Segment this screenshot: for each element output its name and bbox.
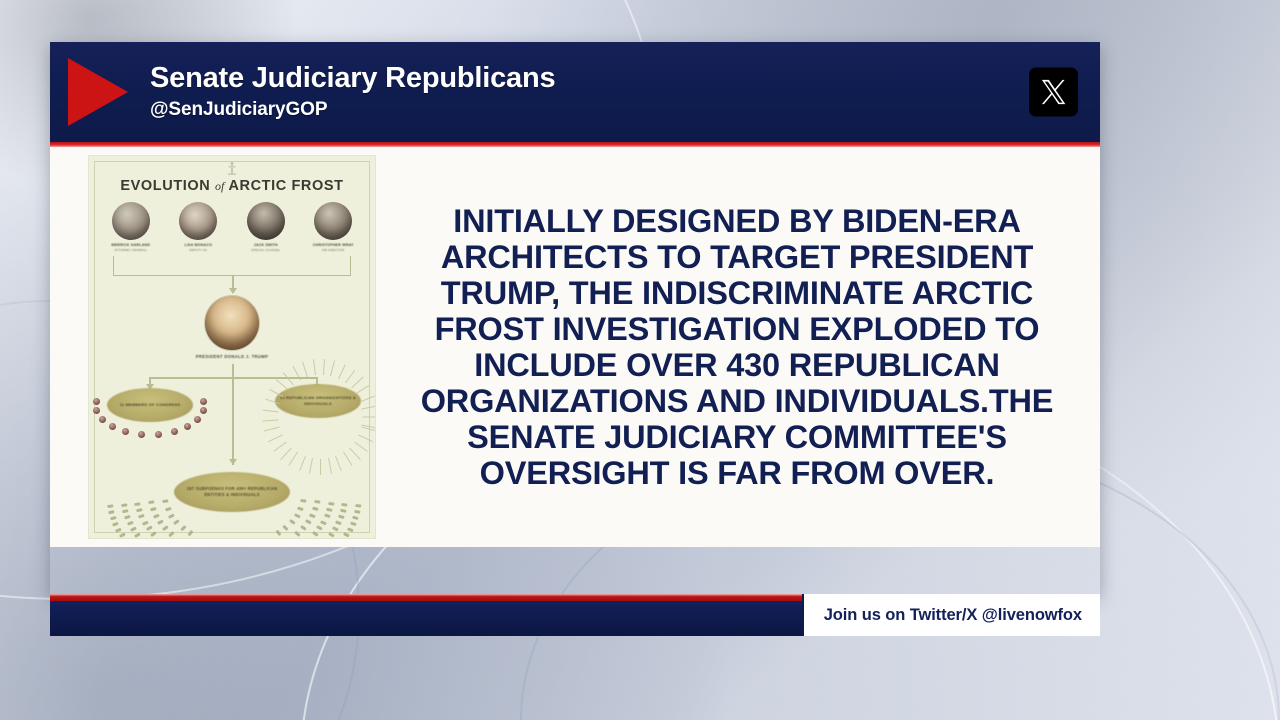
ticker-promo-text: Join us on Twitter/X @livenowfox xyxy=(824,606,1082,625)
x-twitter-logo-icon xyxy=(1029,68,1078,117)
social-quote-card: Senate Judiciary Republicans @SenJudicia… xyxy=(50,42,1100,594)
architect-role: DEPUTY AG xyxy=(168,248,228,252)
subpoena-person-glyph xyxy=(343,533,350,538)
architect-item: MERRICK GARLAND ATTORNEY GENERAL xyxy=(101,202,161,252)
portrait-avatar xyxy=(247,202,285,240)
infographic-title-part1: EVOLUTION xyxy=(120,178,210,194)
central-figure-label: PRESIDENT DONALD J. TRUMP xyxy=(89,354,375,359)
portrait-avatar xyxy=(112,202,150,240)
quote-text: INITIALLY DESIGNED BY BIDEN-ERA ARCHITEC… xyxy=(398,203,1076,492)
crest-icon xyxy=(224,161,240,177)
arctic-frost-infographic: EVOLUTION of ARCTIC FROST MERRICK GARLAN… xyxy=(88,155,376,539)
play-triangle-icon xyxy=(68,58,128,126)
connector-arrow-icon xyxy=(229,459,237,465)
node-republican-organizations: 10 REPUBLICAN ORGANIZATIONS & INDIVIDUAL… xyxy=(275,384,361,418)
account-identity: Senate Judiciary Republicans @SenJudicia… xyxy=(150,63,555,120)
account-handle: @SenJudiciaryGOP xyxy=(150,99,555,121)
architect-item: CHRISTOPHER WRAY FBI DIRECTOR xyxy=(303,202,363,252)
quote-container: INITIALLY DESIGNED BY BIDEN-ERA ARCHITEC… xyxy=(376,203,1086,492)
card-header: Senate Judiciary Republicans @SenJudicia… xyxy=(50,42,1100,142)
portrait-avatar xyxy=(179,202,217,240)
connector-bracket xyxy=(113,256,351,276)
account-name: Senate Judiciary Republicans xyxy=(150,63,555,93)
node-subpoenas: 197 SUBPOENAS FOR 430+ REPUBLICAN ENTITI… xyxy=(174,472,290,512)
infographic-title-part2: ARCTIC FROST xyxy=(228,178,343,194)
connector-arrow-icon xyxy=(229,288,237,294)
portrait-avatar xyxy=(314,202,352,240)
infographic-title: EVOLUTION of ARCTIC FROST xyxy=(89,178,375,194)
architects-row: MERRICK GARLAND ATTORNEY GENERAL LISA MO… xyxy=(97,202,367,252)
portrait-avatar-trump xyxy=(205,296,259,350)
architect-item: LISA MONACO DEPUTY AG xyxy=(168,202,228,252)
architect-role: FBI DIRECTOR xyxy=(303,248,363,252)
connector-line xyxy=(232,364,234,378)
lower-third-ticker: Join us on Twitter/X @livenowfox xyxy=(50,594,1100,636)
connector-line xyxy=(232,377,234,465)
infographic-title-of: of xyxy=(215,179,224,193)
subpoena-person-glyph xyxy=(119,533,126,538)
architect-role: ATTORNEY GENERAL xyxy=(101,248,161,252)
central-figure: PRESIDENT DONALD J. TRUMP xyxy=(89,296,375,359)
architect-role: SPECIAL COUNSEL xyxy=(236,248,296,252)
ticker-promo-box: Join us on Twitter/X @livenowfox xyxy=(802,594,1100,636)
architect-item: JACK SMITH SPECIAL COUNSEL xyxy=(236,202,296,252)
card-body: EVOLUTION of ARCTIC FROST MERRICK GARLAN… xyxy=(50,147,1100,547)
ticker-navy-bar: Join us on Twitter/X @livenowfox xyxy=(50,601,1100,636)
node-members-of-congress: 11 MEMBERS OF CONGRESS xyxy=(107,388,193,422)
broadcast-stage: Senate Judiciary Republicans @SenJudicia… xyxy=(0,0,1280,720)
